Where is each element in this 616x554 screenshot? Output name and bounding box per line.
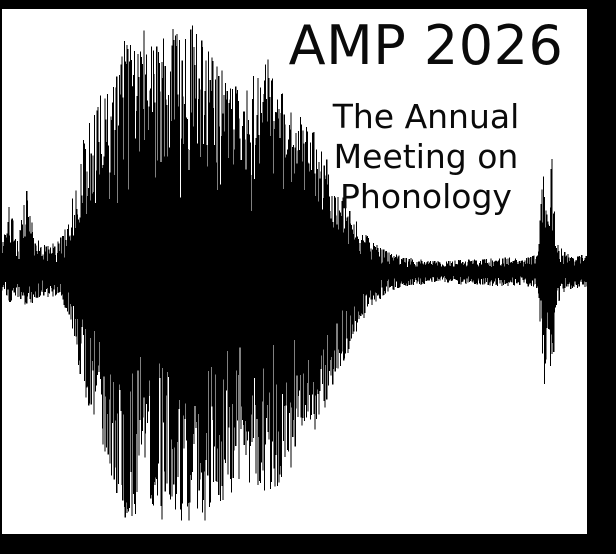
subtitle-line-3: Phonology [271,177,581,217]
subtitle-block: The Annual Meeting on Phonology [271,97,581,217]
poster-canvas: AMP 2026 The Annual Meeting on Phonology [2,9,587,534]
title-block: AMP 2026 The Annual Meeting on Phonology [271,17,581,217]
subtitle-line-1: The Annual [271,97,581,137]
amp-2026-poster: AMP 2026 The Annual Meeting on Phonology [0,0,616,554]
page-title: AMP 2026 [271,17,581,75]
subtitle-line-2: Meeting on [271,137,581,177]
